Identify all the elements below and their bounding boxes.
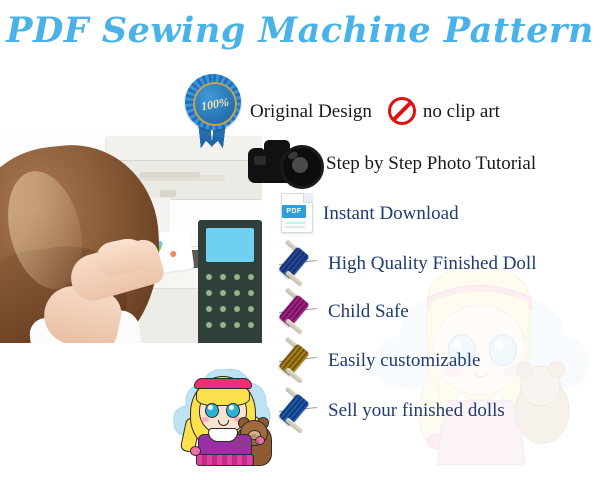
pdf-file-icon: PDF — [281, 193, 313, 233]
doll-logo-badge: DOLLS AND DAYDREAMS — [168, 362, 280, 472]
thread-spool-blue-icon — [278, 243, 318, 283]
logo-headband — [194, 378, 252, 389]
thread-spool-purple-icon — [278, 291, 318, 331]
feature-label-child-safe: Child Safe — [328, 302, 409, 321]
logo-bow-left — [190, 446, 201, 456]
feature-label-no-clip-art: no clip art — [423, 102, 500, 121]
rosette-100-percent-icon: 100% — [182, 72, 244, 150]
feature-row-high-quality: High Quality Finished Doll — [278, 243, 536, 283]
thread-spool-navy-icon — [278, 390, 318, 430]
logo-eye-right — [226, 403, 240, 418]
feature-row-photo-tutorial: Step by Step Photo Tutorial — [248, 140, 536, 186]
logo-dress-frill — [196, 454, 254, 466]
feature-label-original-design: Original Design — [250, 102, 372, 121]
feature-list: 100% Original Design no clip art Step by… — [0, 0, 600, 480]
feature-row-original-design: 100% Original Design no clip art — [182, 72, 500, 150]
feature-label-instant-download: Instant Download — [323, 204, 459, 223]
feature-row-customizable: Easily customizable — [278, 340, 480, 380]
logo-eye-left — [205, 403, 219, 418]
logo-cheek-left — [201, 417, 209, 422]
feature-label-customizable: Easily customizable — [328, 351, 480, 370]
feature-label-sell-dolls: Sell your finished dolls — [328, 401, 505, 420]
feature-label-high-quality: High Quality Finished Doll — [328, 254, 536, 273]
pdf-badge-label: PDF — [286, 208, 301, 215]
no-entry-icon — [388, 97, 416, 125]
feature-row-sell-dolls: Sell your finished dolls — [278, 390, 505, 430]
feature-label-photo-tutorial: Step by Step Photo Tutorial — [326, 154, 536, 173]
feature-row-child-safe: Child Safe — [278, 291, 409, 331]
thread-spool-gold-icon — [278, 340, 318, 380]
camera-icon — [248, 140, 318, 186]
feature-row-instant-download: PDF Instant Download — [281, 193, 459, 233]
poster-canvas: PDF Sewing Machine Pattern — [0, 0, 600, 480]
rosette-label: 100% — [200, 94, 230, 114]
